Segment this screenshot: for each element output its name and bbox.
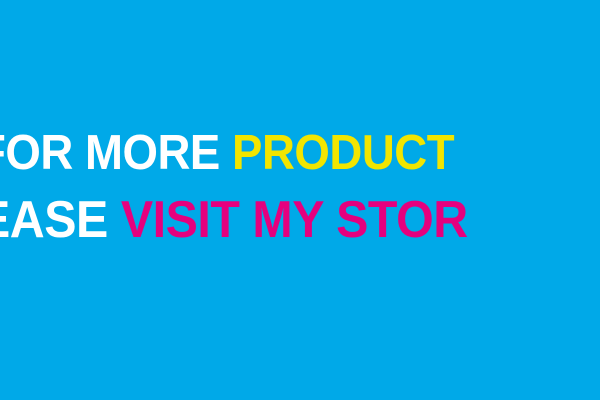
word-space (220, 126, 232, 180)
headline-line-2: EASE VISIT MY STOR (0, 192, 600, 248)
headline-line2-segment-pink: VISIT MY STOR (121, 191, 468, 249)
headline-line2-segment-white: EASE (0, 191, 108, 249)
headline-block: FOR MORE PRODUCT EASE VISIT MY STOR (0, 128, 600, 248)
headline-line-1: FOR MORE PRODUCT (0, 128, 600, 178)
word-space (108, 191, 121, 249)
headline-line1-segment-yellow: PRODUCT (232, 126, 454, 180)
headline-line1-segment-white: FOR MORE (0, 126, 220, 180)
promo-banner: FOR MORE PRODUCT EASE VISIT MY STOR (0, 0, 600, 400)
